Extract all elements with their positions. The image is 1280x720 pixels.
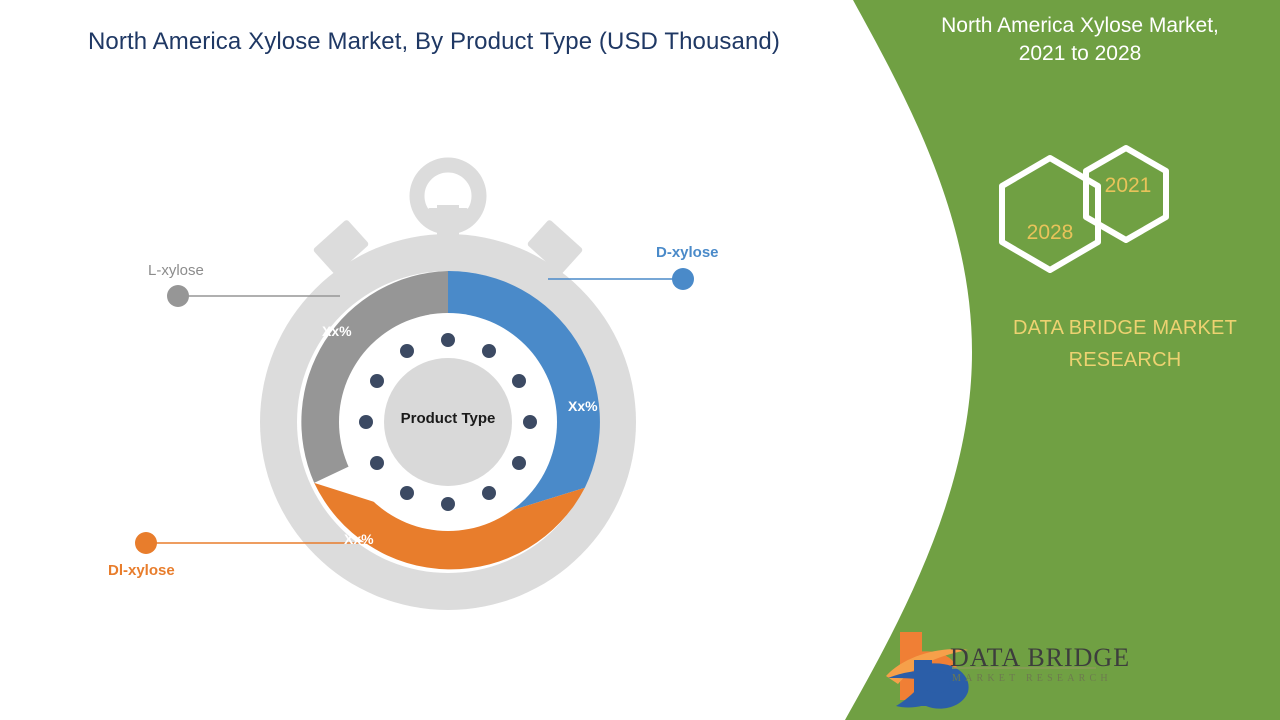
panel-title-line1: North America Xylose Market, [941, 14, 1219, 37]
panel-title-line2: 2021 to 2028 [1019, 42, 1142, 65]
hex-badge-label-2028: 2028 [1010, 221, 1090, 245]
legend-label-dl-xylose[interactable]: Dl-xylose [108, 562, 175, 579]
data-label-dl-xylose: Xx% [344, 531, 374, 547]
donut-center-label: Product Type [348, 410, 548, 427]
brand-line-1: DATA BRIDGE MARKET [1013, 317, 1237, 339]
data-label-l-xylose: Xx% [322, 323, 352, 339]
panel-title: North America Xylose Market, 2021 to 202… [900, 12, 1260, 69]
brand-name: DATA BRIDGE MARKET RESEARCH [965, 312, 1280, 376]
legend-label-d-xylose[interactable]: D-xylose [656, 244, 719, 261]
logo-tagline: MARKET RESEARCH [952, 673, 1112, 684]
hex-badge-label-2021: 2021 [1088, 174, 1168, 198]
logo-wordmark: DATA BRIDGE [950, 643, 1130, 673]
legend-label-l-xylose[interactable]: L-xylose [148, 262, 204, 279]
slide-canvas: North America Xylose Market, By Product … [0, 0, 1280, 720]
brand-line-2: RESEARCH [1069, 349, 1182, 371]
data-label-d-xylose: Xx% [568, 398, 598, 414]
